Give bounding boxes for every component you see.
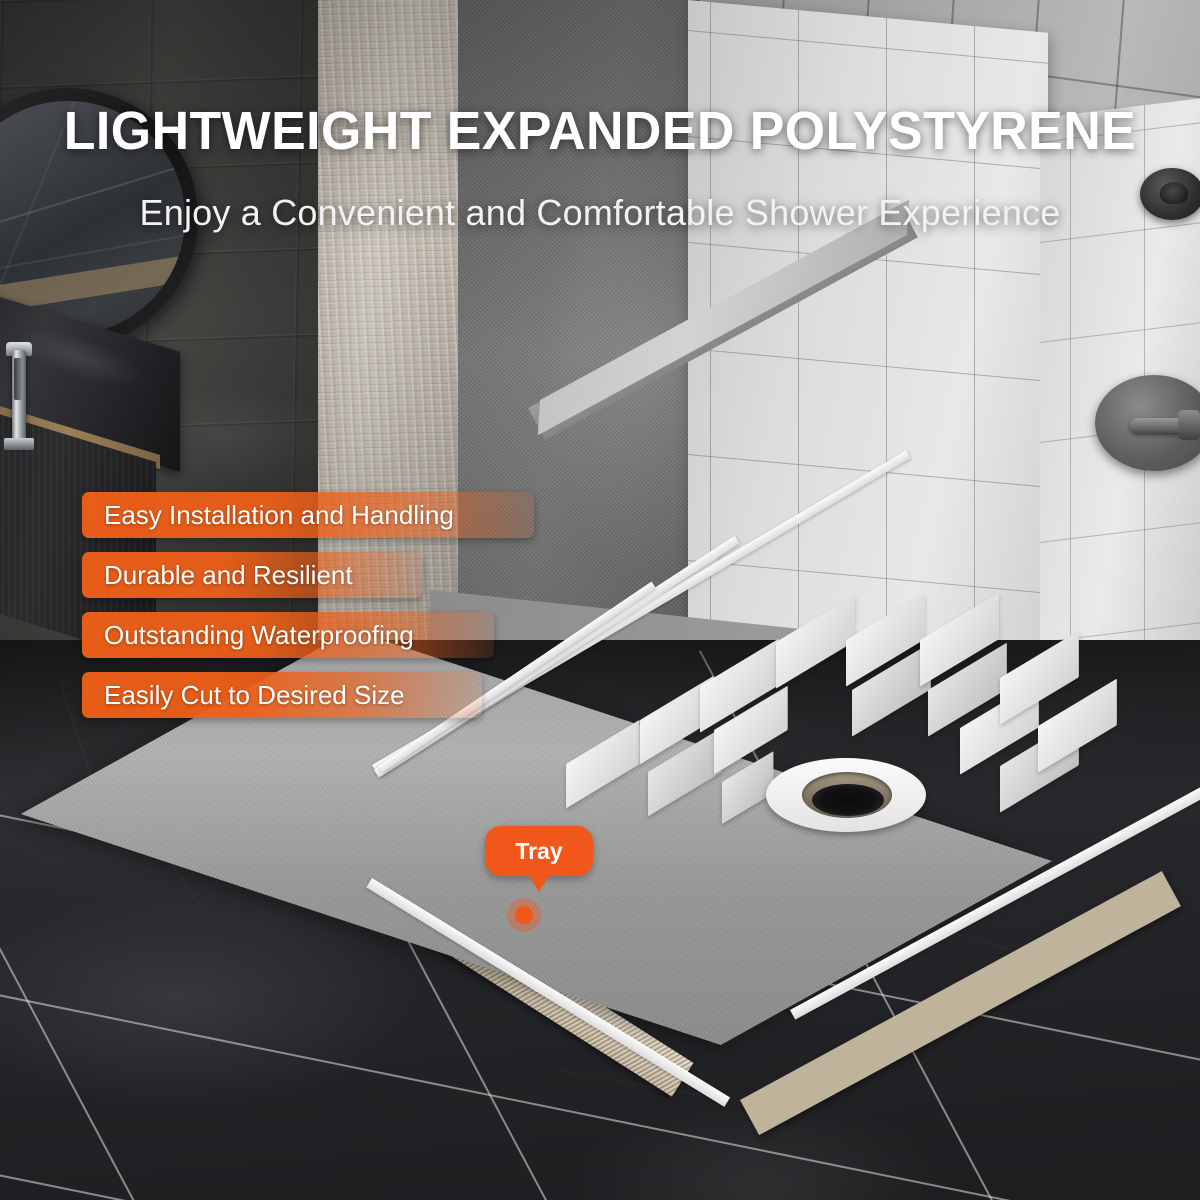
feature-item-durable: Durable and Resilient [82, 552, 422, 598]
faucet-base [4, 438, 34, 450]
floor-grout-line [0, 1150, 1200, 1200]
feature-item-easily-cut: Easily Cut to Desired Size [82, 672, 482, 718]
drain-hole [812, 784, 884, 816]
shower-valve-cap [1178, 410, 1200, 440]
grout-line [1040, 510, 1200, 548]
grout-line [688, 26, 1048, 69]
feature-label: Outstanding Waterproofing [104, 620, 414, 651]
callout-marker-dot [515, 906, 533, 924]
feature-list: Easy Installation and Handling Durable a… [82, 492, 534, 732]
feature-item-waterproofing: Outstanding Waterproofing [82, 612, 494, 658]
product-banner: LIGHTWEIGHT EXPANDED POLYSTYRENE Enjoy a… [0, 0, 1200, 1200]
faucet-lever [14, 358, 23, 400]
page-title: LIGHTWEIGHT EXPANDED POLYSTYRENE [24, 104, 1176, 158]
feature-label: Easily Cut to Desired Size [104, 680, 405, 711]
feature-item-easy-installation: Easy Installation and Handling [82, 492, 534, 538]
feature-label: Durable and Resilient [104, 560, 353, 591]
callout-label: Tray [515, 838, 562, 865]
grout-line [1040, 310, 1200, 348]
feature-label: Easy Installation and Handling [104, 500, 454, 531]
callout-bubble: Tray [485, 826, 593, 876]
tray-callout: Tray [485, 826, 593, 876]
page-subtitle: Enjoy a Convenient and Comfortable Showe… [0, 192, 1200, 234]
grout-line [688, 344, 1048, 387]
